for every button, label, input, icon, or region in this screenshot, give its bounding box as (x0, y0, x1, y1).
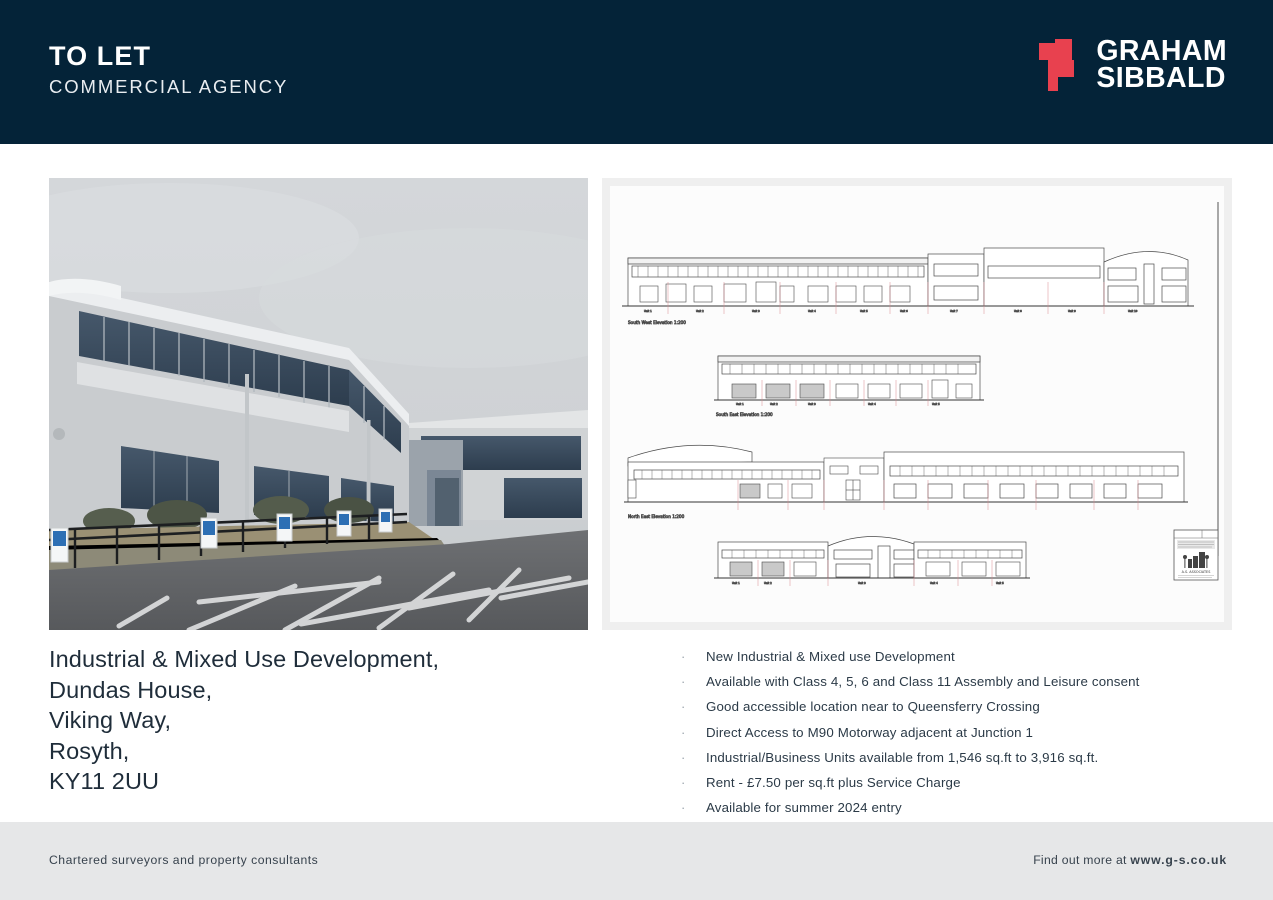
list-item: · Rent - £7.50 per sq.ft plus Service Ch… (681, 775, 1201, 791)
architectural-elevations-drawing: Unit 1Unit 2 Unit 3Unit 4 Unit 5Unit 6 U… (602, 178, 1232, 630)
svg-text:Unit 6: Unit 6 (900, 309, 908, 313)
elevation-2-caption: South East Elevation 1:200 (716, 412, 773, 417)
graham-sibbald-cross-icon (1039, 39, 1085, 91)
footer-tagline: Chartered surveyors and property consult… (49, 853, 318, 867)
list-item-label: Available with Class 4, 5, 6 and Class 1… (706, 674, 1140, 690)
list-item: · Good accessible location near to Queen… (681, 699, 1201, 715)
list-item-label: Industrial/Business Units available from… (706, 750, 1098, 766)
bullet-icon: · (681, 775, 706, 791)
svg-text:Unit 4: Unit 4 (868, 402, 876, 406)
property-photo (49, 178, 588, 630)
list-item: · Direct Access to M90 Motorway adjacent… (681, 725, 1201, 741)
title-block-practice: A.S. ASSOCIATES (1182, 570, 1211, 574)
svg-text:Unit 9: Unit 9 (1068, 309, 1076, 313)
address-line-1: Industrial & Mixed Use Development, (49, 644, 569, 675)
page-footer: Chartered surveyors and property consult… (0, 822, 1273, 900)
bullet-icon: · (681, 725, 706, 741)
page-content: Unit 1Unit 2 Unit 3Unit 4 Unit 5Unit 6 U… (0, 144, 1273, 822)
bullet-icon: · (681, 649, 706, 665)
header-title-block: TO LET COMMERCIAL AGENCY (49, 42, 288, 97)
list-item-label: Rent - £7.50 per sq.ft plus Service Char… (706, 775, 961, 791)
list-item-label: Available for summer 2024 entry (706, 800, 902, 816)
svg-text:Unit 3: Unit 3 (858, 581, 866, 585)
svg-text:Unit 2: Unit 2 (764, 581, 772, 585)
bullet-icon: · (681, 674, 706, 690)
brand-logo-text: GRAHAM SIBBALD (1096, 38, 1227, 92)
svg-text:Unit 5: Unit 5 (860, 309, 868, 313)
brand-logo-line2: SIBBALD (1096, 65, 1227, 92)
address-line-4: Rosyth, (49, 736, 569, 767)
list-item: · New Industrial & Mixed use Development (681, 649, 1201, 665)
footer-website-prefix: Find out more at (1033, 853, 1130, 867)
list-item: · Industrial/Business Units available fr… (681, 750, 1201, 766)
svg-text:Unit 5: Unit 5 (932, 402, 940, 406)
list-item-label: Direct Access to M90 Motorway adjacent a… (706, 725, 1033, 741)
svg-text:Unit 1: Unit 1 (732, 581, 740, 585)
bullet-icon: · (681, 750, 706, 766)
address-line-2: Dundas House, (49, 675, 569, 706)
list-item: · Available with Class 4, 5, 6 and Class… (681, 674, 1201, 690)
brochure-page: TO LET COMMERCIAL AGENCY GRAHAM SIBBALD (0, 0, 1273, 900)
footer-website: Find out more at www.g-s.co.uk (1033, 853, 1227, 867)
elevation-1-caption: South West Elevation 1:200 (628, 320, 686, 325)
svg-text:Unit 2: Unit 2 (696, 309, 704, 313)
list-item: · Available for summer 2024 entry (681, 800, 1201, 816)
svg-text:Unit 5: Unit 5 (996, 581, 1004, 585)
address-postcode: KY11 2UU (49, 766, 569, 797)
svg-text:Unit 2: Unit 2 (770, 402, 778, 406)
svg-text:Unit 3: Unit 3 (752, 309, 760, 313)
drawing-title-block: A.S. ASSOCIATES (1174, 530, 1218, 580)
page-header: TO LET COMMERCIAL AGENCY GRAHAM SIBBALD (0, 0, 1273, 144)
svg-text:Unit 4: Unit 4 (808, 309, 816, 313)
brand-logo: GRAHAM SIBBALD (1039, 38, 1227, 92)
svg-text:Unit 4: Unit 4 (930, 581, 938, 585)
address-line-3: Viking Way, (49, 705, 569, 736)
list-item-label: New Industrial & Mixed use Development (706, 649, 955, 665)
page-subtitle: COMMERCIAL AGENCY (49, 77, 288, 96)
svg-text:Unit 10: Unit 10 (1128, 309, 1138, 313)
property-highlights-list: · New Industrial & Mixed use Development… (681, 649, 1201, 825)
elevation-3-caption: North East Elevation 1:200 (628, 514, 685, 519)
svg-text:Unit 8: Unit 8 (1014, 309, 1022, 313)
brand-logo-line1: GRAHAM (1096, 38, 1227, 65)
svg-text:Unit 1: Unit 1 (736, 402, 744, 406)
svg-text:Unit 3: Unit 3 (808, 402, 816, 406)
footer-website-url[interactable]: www.g-s.co.uk (1130, 853, 1227, 867)
bullet-icon: · (681, 800, 706, 816)
bullet-icon: · (681, 699, 706, 715)
svg-text:Unit 7: Unit 7 (950, 309, 958, 313)
list-item-label: Good accessible location near to Queensf… (706, 699, 1040, 715)
property-address: Industrial & Mixed Use Development, Dund… (49, 644, 569, 797)
page-title: TO LET (49, 42, 288, 70)
svg-text:Unit 1: Unit 1 (644, 309, 652, 313)
